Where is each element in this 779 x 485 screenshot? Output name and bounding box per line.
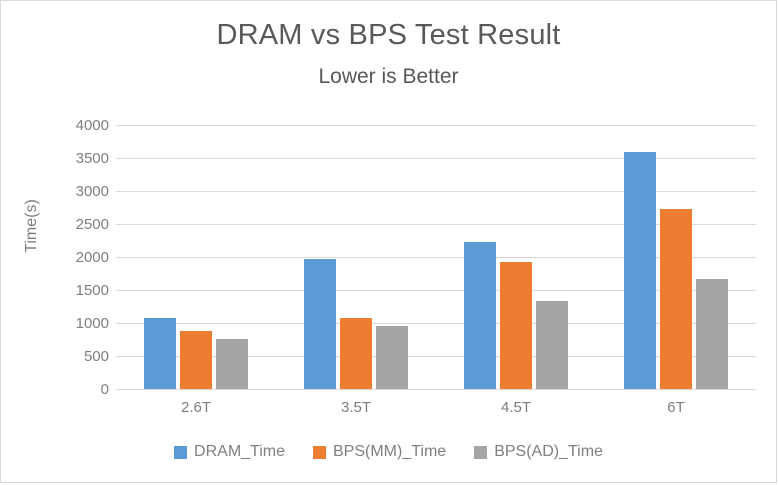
legend-swatch-icon (174, 446, 187, 459)
x-axis-tick-labels: 2.6T3.5T4.5T6T (116, 399, 756, 423)
x-axis-tick-label: 4.5T (436, 399, 596, 423)
bar[interactable] (304, 259, 336, 389)
y-axis-tick-label: 4000 (29, 118, 109, 133)
legend-item[interactable]: BPS(MM)_Time (313, 443, 446, 461)
chart-subtitle: Lower is Better (1, 65, 776, 89)
bar[interactable] (696, 279, 728, 389)
legend-swatch-icon (474, 446, 487, 459)
y-axis-tick-label: 1000 (29, 316, 109, 331)
x-axis-line (116, 389, 756, 390)
bar[interactable] (216, 339, 248, 389)
y-axis-tick-label: 2000 (29, 250, 109, 265)
bar[interactable] (376, 326, 408, 389)
legend-item[interactable]: DRAM_Time (174, 443, 285, 461)
bar-group (276, 125, 436, 389)
chart-legend: DRAM_TimeBPS(MM)_TimeBPS(AD)_Time (1, 443, 776, 461)
y-axis-tick-label: 0 (29, 382, 109, 397)
bar[interactable] (536, 301, 568, 389)
y-axis-tick-label: 2500 (29, 217, 109, 232)
legend-item[interactable]: BPS(AD)_Time (474, 443, 603, 461)
y-axis-tick-label: 1500 (29, 283, 109, 298)
bar[interactable] (340, 318, 372, 389)
y-axis-tick-label: 500 (29, 349, 109, 364)
bar[interactable] (144, 318, 176, 389)
y-axis-tick-labels: 40003500300025002000150010005000 (29, 115, 109, 399)
bar[interactable] (180, 331, 212, 389)
chart-container: DRAM vs BPS Test Result Lower is Better … (0, 0, 777, 483)
plot-area (116, 125, 756, 389)
legend-label: BPS(MM)_Time (333, 443, 446, 461)
y-axis-tick-label: 3500 (29, 151, 109, 166)
x-axis-tick-label: 2.6T (116, 399, 276, 423)
bar[interactable] (624, 152, 656, 389)
bar[interactable] (500, 262, 532, 389)
x-axis-tick-label: 6T (596, 399, 756, 423)
bar[interactable] (464, 242, 496, 390)
chart-title: DRAM vs BPS Test Result (1, 19, 776, 52)
legend-label: BPS(AD)_Time (494, 443, 603, 461)
bar-group (596, 125, 756, 389)
legend-label: DRAM_Time (194, 443, 285, 461)
y-axis-tick-label: 3000 (29, 184, 109, 199)
bar[interactable] (660, 209, 692, 390)
x-axis-tick-label: 3.5T (276, 399, 436, 423)
legend-swatch-icon (313, 446, 326, 459)
bar-group (116, 125, 276, 389)
bar-group (436, 125, 596, 389)
